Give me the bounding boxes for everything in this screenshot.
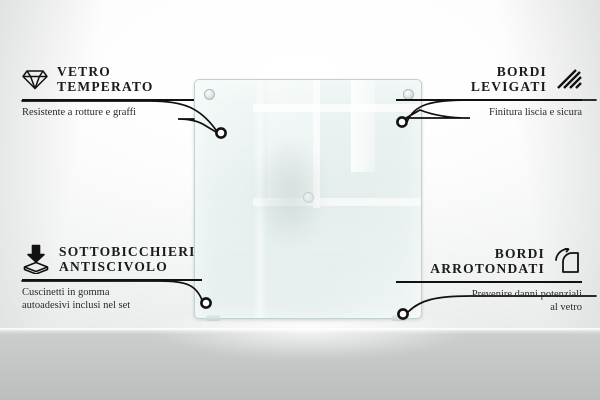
diagonal-stripes-icon: [556, 68, 582, 90]
callout-rule: [396, 281, 582, 283]
standoff-center: [303, 192, 314, 203]
standoff-top-left: [204, 89, 215, 100]
rounded-corner-icon: [554, 248, 582, 274]
callout-title: BORDI LEVIGATI: [471, 64, 547, 94]
glass-panel: [194, 79, 420, 317]
floor-highlight: [120, 318, 500, 364]
callout-heading: BORDI ARROTONDATI: [396, 246, 582, 276]
callout-heading: BORDI LEVIGATI: [396, 64, 582, 94]
callout-bordi-arrotondati: BORDI ARROTONDATI Prevenire danni potenz…: [396, 246, 582, 314]
callout-rule: [22, 279, 202, 281]
callout-title: SOTTOBICCHIERI ANTISCIVOLO: [59, 244, 196, 274]
callout-vetro-temperato: VETRO TEMPERATO Resistente a rotture e g…: [22, 64, 194, 119]
product-infographic: VETRO TEMPERATO Resistente a rotture e g…: [0, 0, 600, 400]
callout-subtitle: Finitura liscia e sicura: [396, 106, 582, 119]
callout-subtitle: Prevenire danni potenziali al vetro: [396, 288, 582, 314]
arrow-onto-pad-icon: [22, 244, 50, 274]
glass-foot-right: [392, 315, 406, 321]
diamond-icon: [22, 68, 48, 90]
glass-surface: [194, 79, 422, 319]
callout-sottobicchieri-antiscivolo: SOTTOBICCHIERI ANTISCIVOLO Cuscinetti in…: [22, 244, 202, 312]
callout-subtitle: Resistente a rotture e graffi: [22, 106, 194, 119]
callout-title: BORDI ARROTONDATI: [430, 246, 545, 276]
callout-rule: [396, 99, 582, 101]
glass-foot-left: [206, 315, 220, 321]
callout-title: VETRO TEMPERATO: [57, 64, 154, 94]
callout-rule: [22, 99, 194, 101]
callout-heading: SOTTOBICCHIERI ANTISCIVOLO: [22, 244, 202, 274]
callout-bordi-levigati: BORDI LEVIGATI Finitura liscia e sicura: [396, 64, 582, 119]
callout-heading: VETRO TEMPERATO: [22, 64, 194, 94]
callout-subtitle: Cuscinetti in gomma autoadesivi inclusi …: [22, 286, 202, 312]
